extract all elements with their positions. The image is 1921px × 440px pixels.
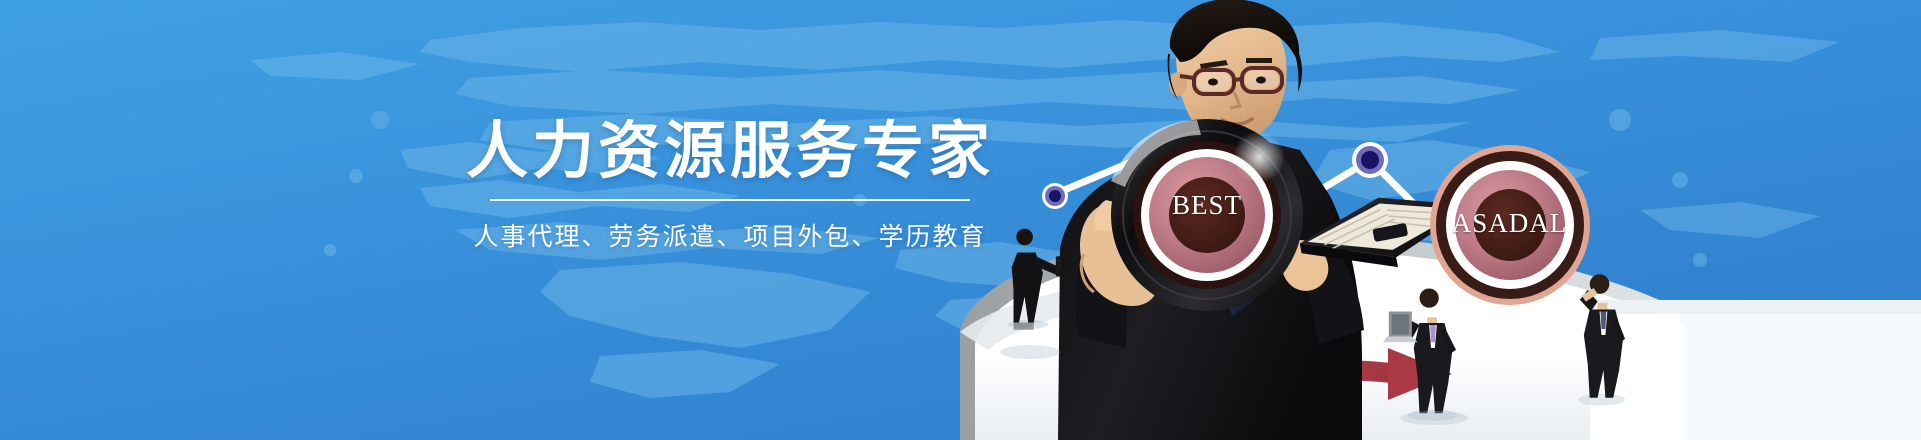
best-badge bbox=[1111, 119, 1303, 311]
platform-block bbox=[1590, 300, 1921, 440]
page-title: 人力资源服务专家 bbox=[420, 118, 1040, 183]
hero-banner: 人力资源服务专家 人事代理、劳务派遣、项目外包、学历教育 bbox=[0, 0, 1921, 440]
page-subtitle: 人事代理、劳务派遣、项目外包、学历教育 bbox=[420, 217, 1040, 253]
title-divider bbox=[490, 199, 970, 201]
asadal-badge bbox=[1430, 145, 1590, 305]
headline-block: 人力资源服务专家 人事代理、劳务派遣、项目外包、学历教育 bbox=[420, 118, 1040, 253]
